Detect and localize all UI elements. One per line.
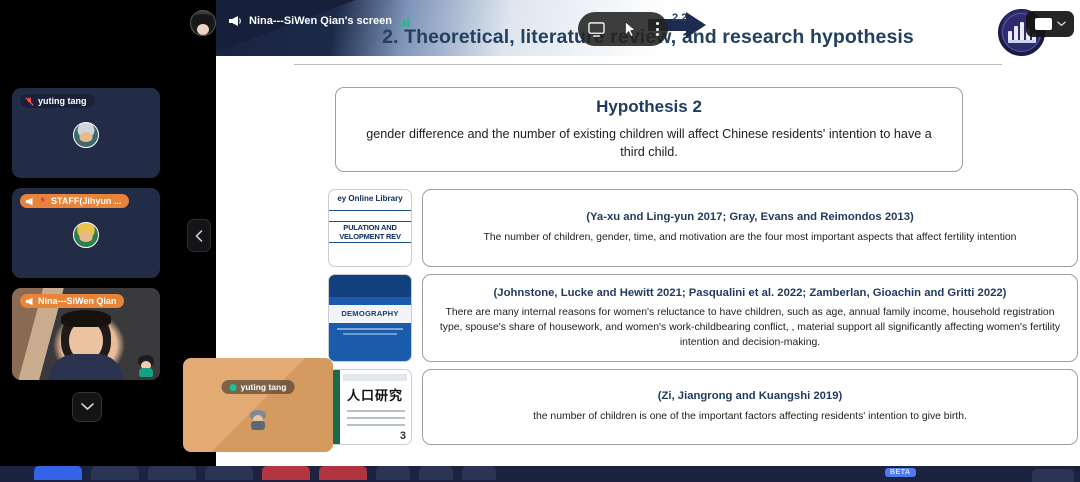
cursor-pointer-icon[interactable] xyxy=(624,21,637,38)
participant-tile-nina-siwen-qian[interactable]: Nina---SiWen Qian xyxy=(12,288,160,380)
toolbar-button-apps[interactable] xyxy=(419,466,453,480)
avatar xyxy=(73,122,99,148)
participant-tile-yuting-tang[interactable]: yuting tang xyxy=(12,88,160,178)
toolbar-button-video[interactable] xyxy=(91,466,139,480)
megaphone-icon xyxy=(228,15,242,27)
participant-sidebar: yuting tang STAFF(Jihyun ... xyxy=(0,0,180,466)
cover-line xyxy=(347,410,405,412)
cover-title-line-2: VELOPMENT REV xyxy=(329,232,411,241)
signal-strength-icon xyxy=(399,16,410,27)
hypothesis-body: gender difference and the number of exis… xyxy=(336,125,962,162)
population-and-development-review-cover: ey Online Library PULATION AND VELOPMENT… xyxy=(328,189,412,267)
megaphone-icon xyxy=(25,197,34,206)
reference-citation: (Johnstone, Lucke and Hewitt 2021; Pasqu… xyxy=(437,286,1063,301)
toolbar-button-reactions[interactable] xyxy=(376,466,410,480)
avatar-sticker-icon xyxy=(136,355,156,377)
chevron-left-icon xyxy=(195,230,203,242)
annotation-label: 2.2 xyxy=(672,12,687,24)
beta-badge: BETA xyxy=(885,468,916,477)
zoom-meeting-window: 2. Theoretical, literature review, and r… xyxy=(0,0,1080,482)
reference-row: DEMOGRAPHY (Johnstone, Lucke and Hewitt … xyxy=(328,274,1078,362)
megaphone-icon xyxy=(25,297,34,306)
slide-title-divider xyxy=(294,64,1002,65)
chevron-down-icon xyxy=(1057,21,1066,27)
chinese-population-research-journal-cover: 人口研究 3 xyxy=(328,369,412,445)
monitor-icon[interactable] xyxy=(588,22,605,37)
screen-share-banner: Nina---SiWen Qian's screen xyxy=(228,15,410,27)
hypothesis-box: Hypothesis 2 gender difference and the n… xyxy=(335,87,963,172)
reference-citation: (Zi, Jiangrong and Kuangshi 2019) xyxy=(437,389,1063,404)
demography-journal-cover: DEMOGRAPHY xyxy=(328,274,412,362)
participant-name: Nina---SiWen Qian xyxy=(38,296,116,306)
scroll-participants-down-button[interactable] xyxy=(72,392,102,422)
mic-muted-icon xyxy=(25,97,34,106)
participant-name: yuting tang xyxy=(38,96,87,106)
participant-tile-staff-jihyun[interactable]: STAFF(Jihyun ... xyxy=(12,188,160,278)
share-controls-toolbar[interactable] xyxy=(578,12,668,46)
participant-name-badge: yuting tang xyxy=(222,380,295,394)
cover-top-band xyxy=(329,275,411,297)
reference-text: There are many internal reasons for wome… xyxy=(437,306,1063,350)
toolbar-button-participants[interactable] xyxy=(148,466,196,480)
meeting-toolbar[interactable]: BETA xyxy=(0,466,1080,482)
floating-participant-thumbnail[interactable]: yuting tang xyxy=(183,358,333,452)
toolbar-button-share[interactable] xyxy=(262,466,310,480)
logo-base xyxy=(1008,40,1035,43)
reference-text: the number of children is one of the imp… xyxy=(437,410,1063,425)
hypothesis-heading: Hypothesis 2 xyxy=(336,97,962,117)
reference-citation: (Ya-xu and Ling-yun 2017; Gray, Evans an… xyxy=(437,210,1063,225)
reference-box: (Johnstone, Lucke and Hewitt 2021; Pasqu… xyxy=(422,274,1078,362)
participant-name-badge: yuting tang xyxy=(20,94,95,108)
screen-view-icon xyxy=(1035,18,1052,30)
view-selector-button[interactable] xyxy=(1026,11,1074,37)
mic-muted-icon xyxy=(38,197,47,206)
cover-header-bar xyxy=(343,374,407,381)
cover-title-line-1: PULATION AND xyxy=(329,223,411,232)
cover-subline-1 xyxy=(337,328,403,330)
cover-subline-2 xyxy=(343,333,397,335)
shared-screen-content[interactable]: 2. Theoretical, literature review, and r… xyxy=(216,0,1080,466)
more-options-icon[interactable] xyxy=(656,22,659,36)
avatar xyxy=(249,410,267,430)
cover-line xyxy=(347,424,405,426)
collapse-sidebar-button[interactable] xyxy=(187,219,211,252)
participant-name: yuting tang xyxy=(241,382,287,392)
avatar xyxy=(73,222,99,248)
toolbar-button-record[interactable] xyxy=(319,466,367,480)
chevron-down-icon xyxy=(81,403,94,411)
active-status-dot-icon xyxy=(230,384,237,391)
toolbar-button-leave[interactable] xyxy=(1032,469,1074,482)
reference-row: ey Online Library PULATION AND VELOPMENT… xyxy=(328,189,1078,267)
cover-page-number: 3 xyxy=(400,430,406,442)
cover-title: 人口研究 xyxy=(343,385,407,404)
cover-title: DEMOGRAPHY xyxy=(329,309,411,318)
participant-name: STAFF(Jihyun ... xyxy=(51,196,121,206)
cover-rule xyxy=(329,210,411,211)
participant-name-badge: Nina---SiWen Qian xyxy=(20,294,124,308)
reference-box: (Zi, Jiangrong and Kuangshi 2019) the nu… xyxy=(422,369,1078,445)
reference-row: 人口研究 3 (Zi, Jiangrong and Kuangshi 2019)… xyxy=(328,369,1078,445)
participant-name-badge: STAFF(Jihyun ... xyxy=(20,194,129,208)
share-banner-label: Nina---SiWen Qian's screen xyxy=(249,15,392,27)
reference-text: The number of children, gender, time, an… xyxy=(437,231,1063,246)
toolbar-button-chat[interactable] xyxy=(205,466,253,480)
toolbar-button-more[interactable] xyxy=(462,466,496,480)
toolbar-button-audio[interactable] xyxy=(34,466,82,480)
reference-box: (Ya-xu and Ling-yun 2017; Gray, Evans an… xyxy=(422,189,1078,267)
cover-publisher-line: ey Online Library xyxy=(329,194,411,203)
cover-line xyxy=(347,417,405,419)
active-speaker-avatar xyxy=(190,10,216,36)
